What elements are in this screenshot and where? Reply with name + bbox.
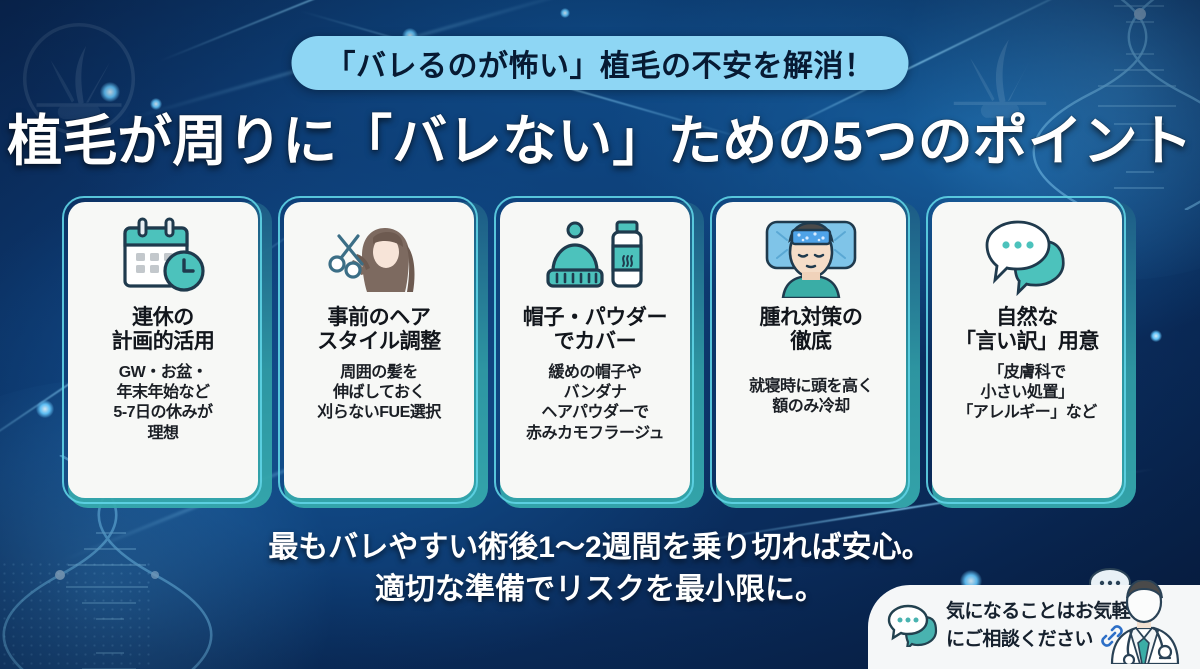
card-title: 連休の 計画的活用 — [112, 306, 215, 355]
footer-line-1: 最もバレやすい術後1〜2週間を乗り切れば安心。 — [0, 528, 1200, 568]
subtitle-pill: 「バレるのが怖い」植毛の不安を解消！ — [292, 36, 909, 90]
speech-bubbles-icon — [977, 214, 1077, 300]
sleeping-cooling-icon — [755, 214, 867, 300]
point-card-4[interactable]: 腫れ対策の 徹底 就寝時に頭を高く 額のみ冷却 — [710, 196, 914, 508]
point-card-1[interactable]: 連休の 計画的活用 GW・お盆・ 年末年始など 5-7日の休みが 理想 — [62, 196, 266, 508]
point-card-3[interactable]: 帽子・パウダー でカバー 緩めの帽子や バンダナ ヘアパウダーで 赤みカモフラー… — [494, 196, 698, 508]
consultation-line-2: にご相談ください — [946, 627, 1093, 653]
infographic-poster: 「バレるのが怖い」植毛の不安を解消！ 植毛が周りに「バレない」ための5つのポイン… — [0, 0, 1200, 669]
beanie-powder-icon — [541, 214, 649, 300]
page-title: 植毛が周りに「バレない」ための5つのポイント — [0, 96, 1200, 176]
subtitle-text: 「バレるのが怖い」植毛の不安を解消！ — [326, 41, 875, 85]
scissors-hairstyle-icon — [327, 214, 431, 300]
chat-bubbles-icon — [886, 603, 938, 652]
card-title: 事前のヘア スタイル調整 — [317, 306, 441, 355]
card-body: 緩めの帽子や バンダナ ヘアパウダーで 赤みカモフラージュ — [526, 363, 664, 444]
consultation-badge[interactable]: 気になることはお気軽 にご相談ください — [868, 585, 1200, 669]
point-card-5[interactable]: 自然な 「言い訳」用意 「皮膚科で 小さい処置」 「アレルギー」など — [926, 196, 1130, 508]
doctor-illustration — [1092, 580, 1196, 669]
calendar-clock-icon — [117, 214, 209, 300]
card-title: 帽子・パウダー でカバー — [523, 306, 667, 355]
card-body: 周囲の髪を 伸ばしておく 刈らないFUE選択 — [317, 363, 441, 424]
points-card-list: 連休の 計画的活用 GW・お盆・ 年末年始など 5-7日の休みが 理想 — [62, 196, 1138, 508]
card-body: 就寝時に頭を高く 額のみ冷却 — [749, 377, 873, 418]
card-title: 腫れ対策の 徹底 — [760, 306, 863, 355]
card-body: 「皮膚科で 小さい処置」 「アレルギー」など — [957, 363, 1097, 424]
card-title: 自然な 「言い訳」用意 — [955, 306, 1099, 355]
point-card-2[interactable]: 事前のヘア スタイル調整 周囲の髪を 伸ばしておく 刈らないFUE選択 — [278, 196, 482, 508]
card-body: GW・お盆・ 年末年始など 5-7日の休みが 理想 — [113, 363, 212, 444]
